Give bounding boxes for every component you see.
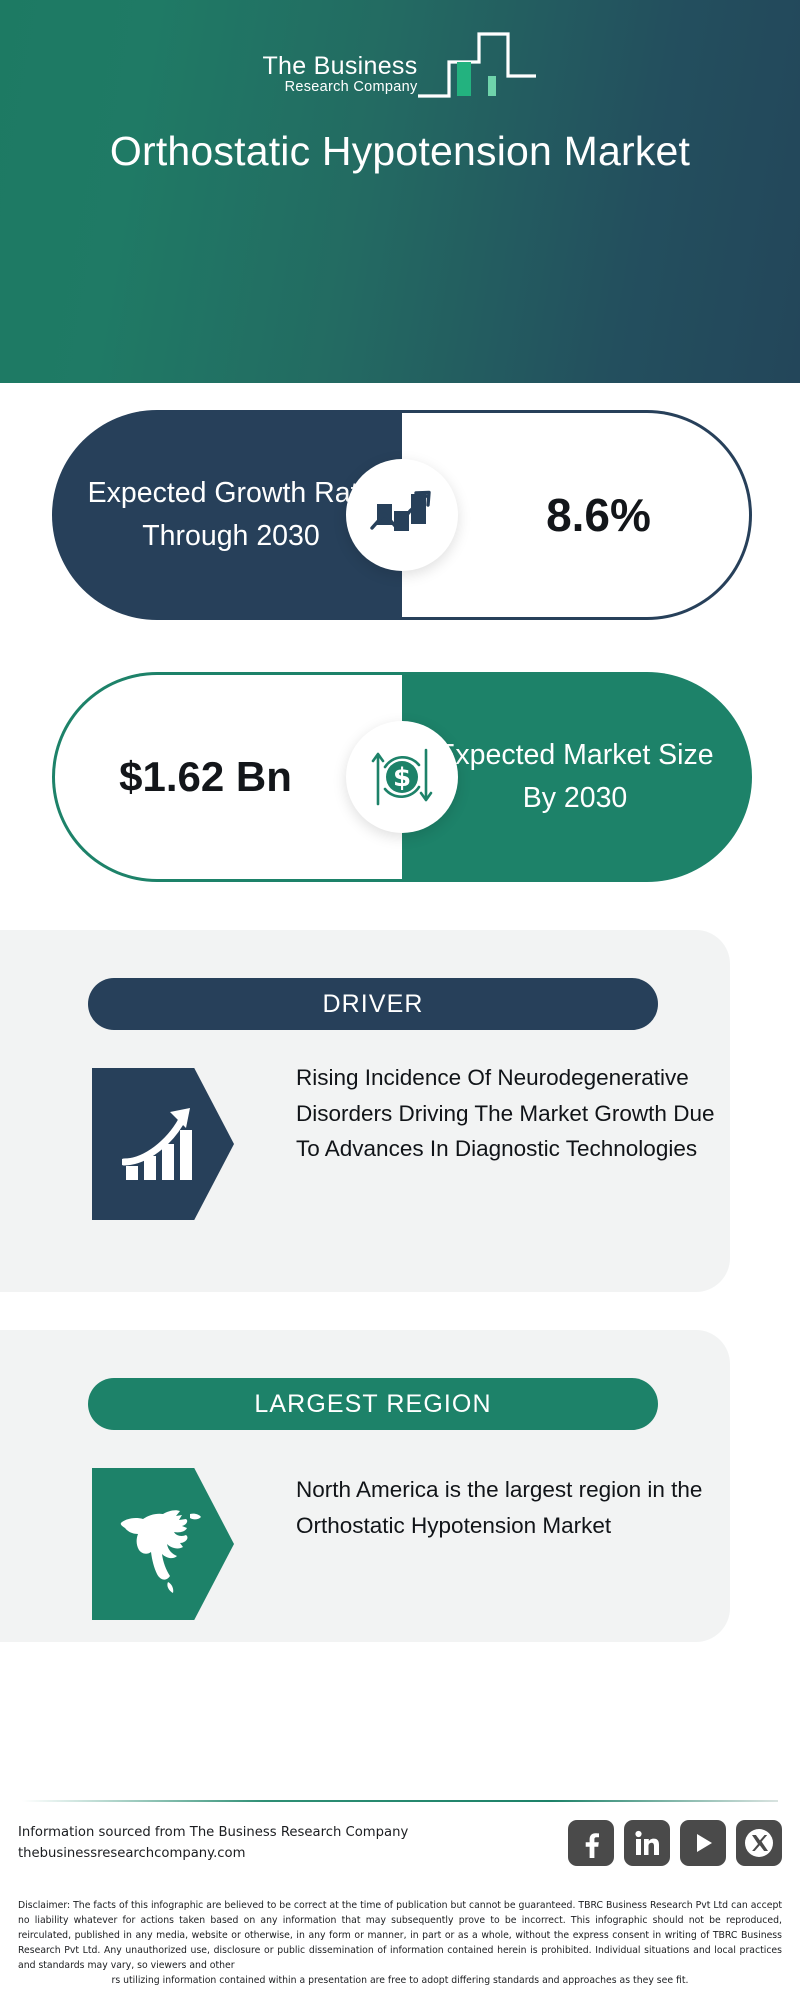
header-banner: The Business Research Company Orthostati… <box>0 0 800 383</box>
driver-description: Rising Incidence Of Neurodegenerative Di… <box>296 1060 716 1167</box>
youtube-icon[interactable] <box>680 1820 726 1866</box>
logo-primary-text: The Business <box>262 54 417 80</box>
brand-logo: The Business Research Company <box>0 26 800 100</box>
svg-text:$: $ <box>393 763 411 793</box>
logo-secondary-text: Research Company <box>285 79 418 96</box>
footer-divider <box>22 1800 778 1802</box>
largest-region-pill-label: LARGEST REGION <box>88 1378 658 1430</box>
north-america-map-icon <box>92 1468 234 1620</box>
social-links <box>568 1820 782 1866</box>
largest-region-panel: LARGEST REGION North America is the larg… <box>0 1330 730 1642</box>
driver-pill-label: DRIVER <box>88 978 658 1030</box>
dollar-circulation-icon: $ <box>346 721 458 833</box>
linkedin-icon[interactable] <box>624 1820 670 1866</box>
facebook-icon[interactable] <box>568 1820 614 1866</box>
rising-bar-chart-arrow-icon <box>92 1068 234 1220</box>
stat-card-growth-rate: Expected Growth Rate Through 2030 8.6% <box>52 410 752 620</box>
infographic-page: The Business Research Company Orthostati… <box>0 0 800 2000</box>
driver-panel: DRIVER Rising Incidence Of Neurodegenera… <box>0 930 730 1292</box>
largest-region-description: North America is the largest region in t… <box>296 1472 716 1543</box>
source-line-1: Information sourced from The Business Re… <box>18 1822 408 1843</box>
bar-chart-logo-icon <box>416 26 538 100</box>
source-line-2[interactable]: thebusinessresearchcompany.com <box>18 1843 408 1864</box>
disclaimer-text: Disclaimer: The facts of this infographi… <box>18 1898 782 1988</box>
growth-bar-chart-arrow-icon <box>346 459 458 571</box>
disclaimer-last-line: rs utilizing information contained withi… <box>18 1973 782 1988</box>
x-twitter-icon[interactable] <box>736 1820 782 1866</box>
disclaimer-body: Disclaimer: The facts of this infographi… <box>18 1900 782 1971</box>
page-title: Orthostatic Hypotension Market <box>0 125 800 177</box>
source-attribution: Information sourced from The Business Re… <box>18 1822 408 1865</box>
stat-card-market-size: $1.62 Bn Expected Market Size By 2030 $ <box>52 672 752 882</box>
